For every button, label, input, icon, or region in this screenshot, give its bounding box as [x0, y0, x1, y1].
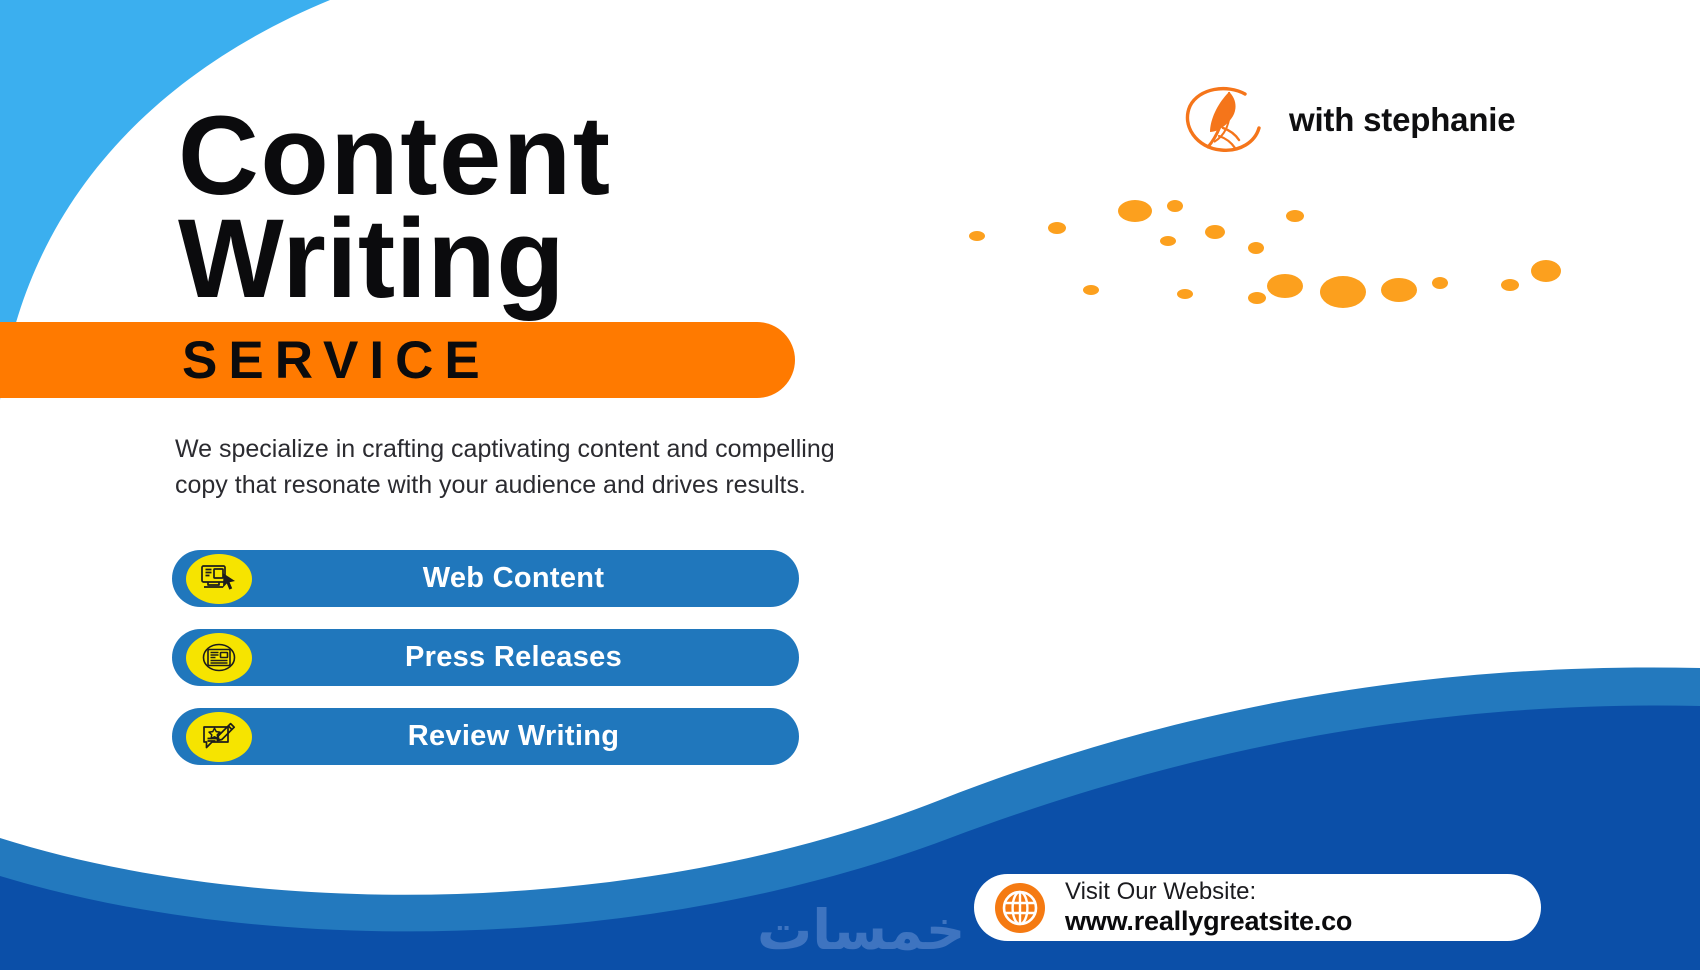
decor-dot-12: [1381, 278, 1417, 302]
service-pill-label: Review Writing: [172, 720, 799, 753]
service-banner: SERVICE: [0, 322, 795, 398]
headline-line-1: Content: [178, 104, 1078, 207]
decor-dot-13: [1432, 277, 1448, 289]
page-title: Content Writing: [178, 104, 1078, 310]
globe-icon: [994, 882, 1046, 934]
decor-dot-2: [1160, 236, 1176, 246]
decor-dot-11: [1320, 276, 1366, 308]
description-text: We specialize in crafting captivating co…: [175, 432, 875, 503]
decor-dot-5: [1248, 242, 1264, 254]
decor-dot-3: [1167, 200, 1183, 212]
service-pill-label: Press Releases: [172, 641, 799, 674]
feather-quill-icon: [1183, 82, 1275, 158]
decor-dot-6: [1286, 210, 1304, 222]
headline-line-2: Writing: [178, 207, 1078, 310]
decor-dot-8: [1177, 289, 1193, 299]
service-pill-label: Web Content: [172, 562, 799, 595]
decor-dot-7: [1083, 285, 1099, 295]
decor-dot-9: [1267, 274, 1303, 298]
decor-dot-1: [1118, 200, 1152, 222]
decor-dot-15: [1531, 260, 1561, 282]
service-pill-review-writing[interactable]: Review Writing: [172, 708, 799, 765]
computer-monitor-cursor-icon: [186, 554, 252, 604]
website-cta[interactable]: Visit Our Website: www.reallygreatsite.c…: [974, 874, 1541, 941]
website-text-block: Visit Our Website: www.reallygreatsite.c…: [1065, 879, 1352, 936]
website-caption: Visit Our Website:: [1065, 879, 1352, 906]
decor-dot-14: [1501, 279, 1519, 291]
review-star-pencil-icon: [186, 712, 252, 762]
brand-logo: with stephanie: [1183, 82, 1515, 158]
services-list: Web Content Press Releases: [172, 550, 799, 765]
decor-dot-10: [1248, 292, 1266, 304]
website-url: www.reallygreatsite.co: [1065, 906, 1352, 936]
newspaper-icon: [186, 633, 252, 683]
watermark-text: خمسات: [757, 898, 965, 962]
poster-canvas: with stephanie Content Writing SERVICE W…: [0, 0, 1700, 970]
service-pill-web-content[interactable]: Web Content: [172, 550, 799, 607]
decor-dot-4: [1205, 225, 1225, 239]
service-banner-label: SERVICE: [182, 330, 491, 391]
service-pill-press-releases[interactable]: Press Releases: [172, 629, 799, 686]
brand-name: with stephanie: [1289, 101, 1515, 139]
